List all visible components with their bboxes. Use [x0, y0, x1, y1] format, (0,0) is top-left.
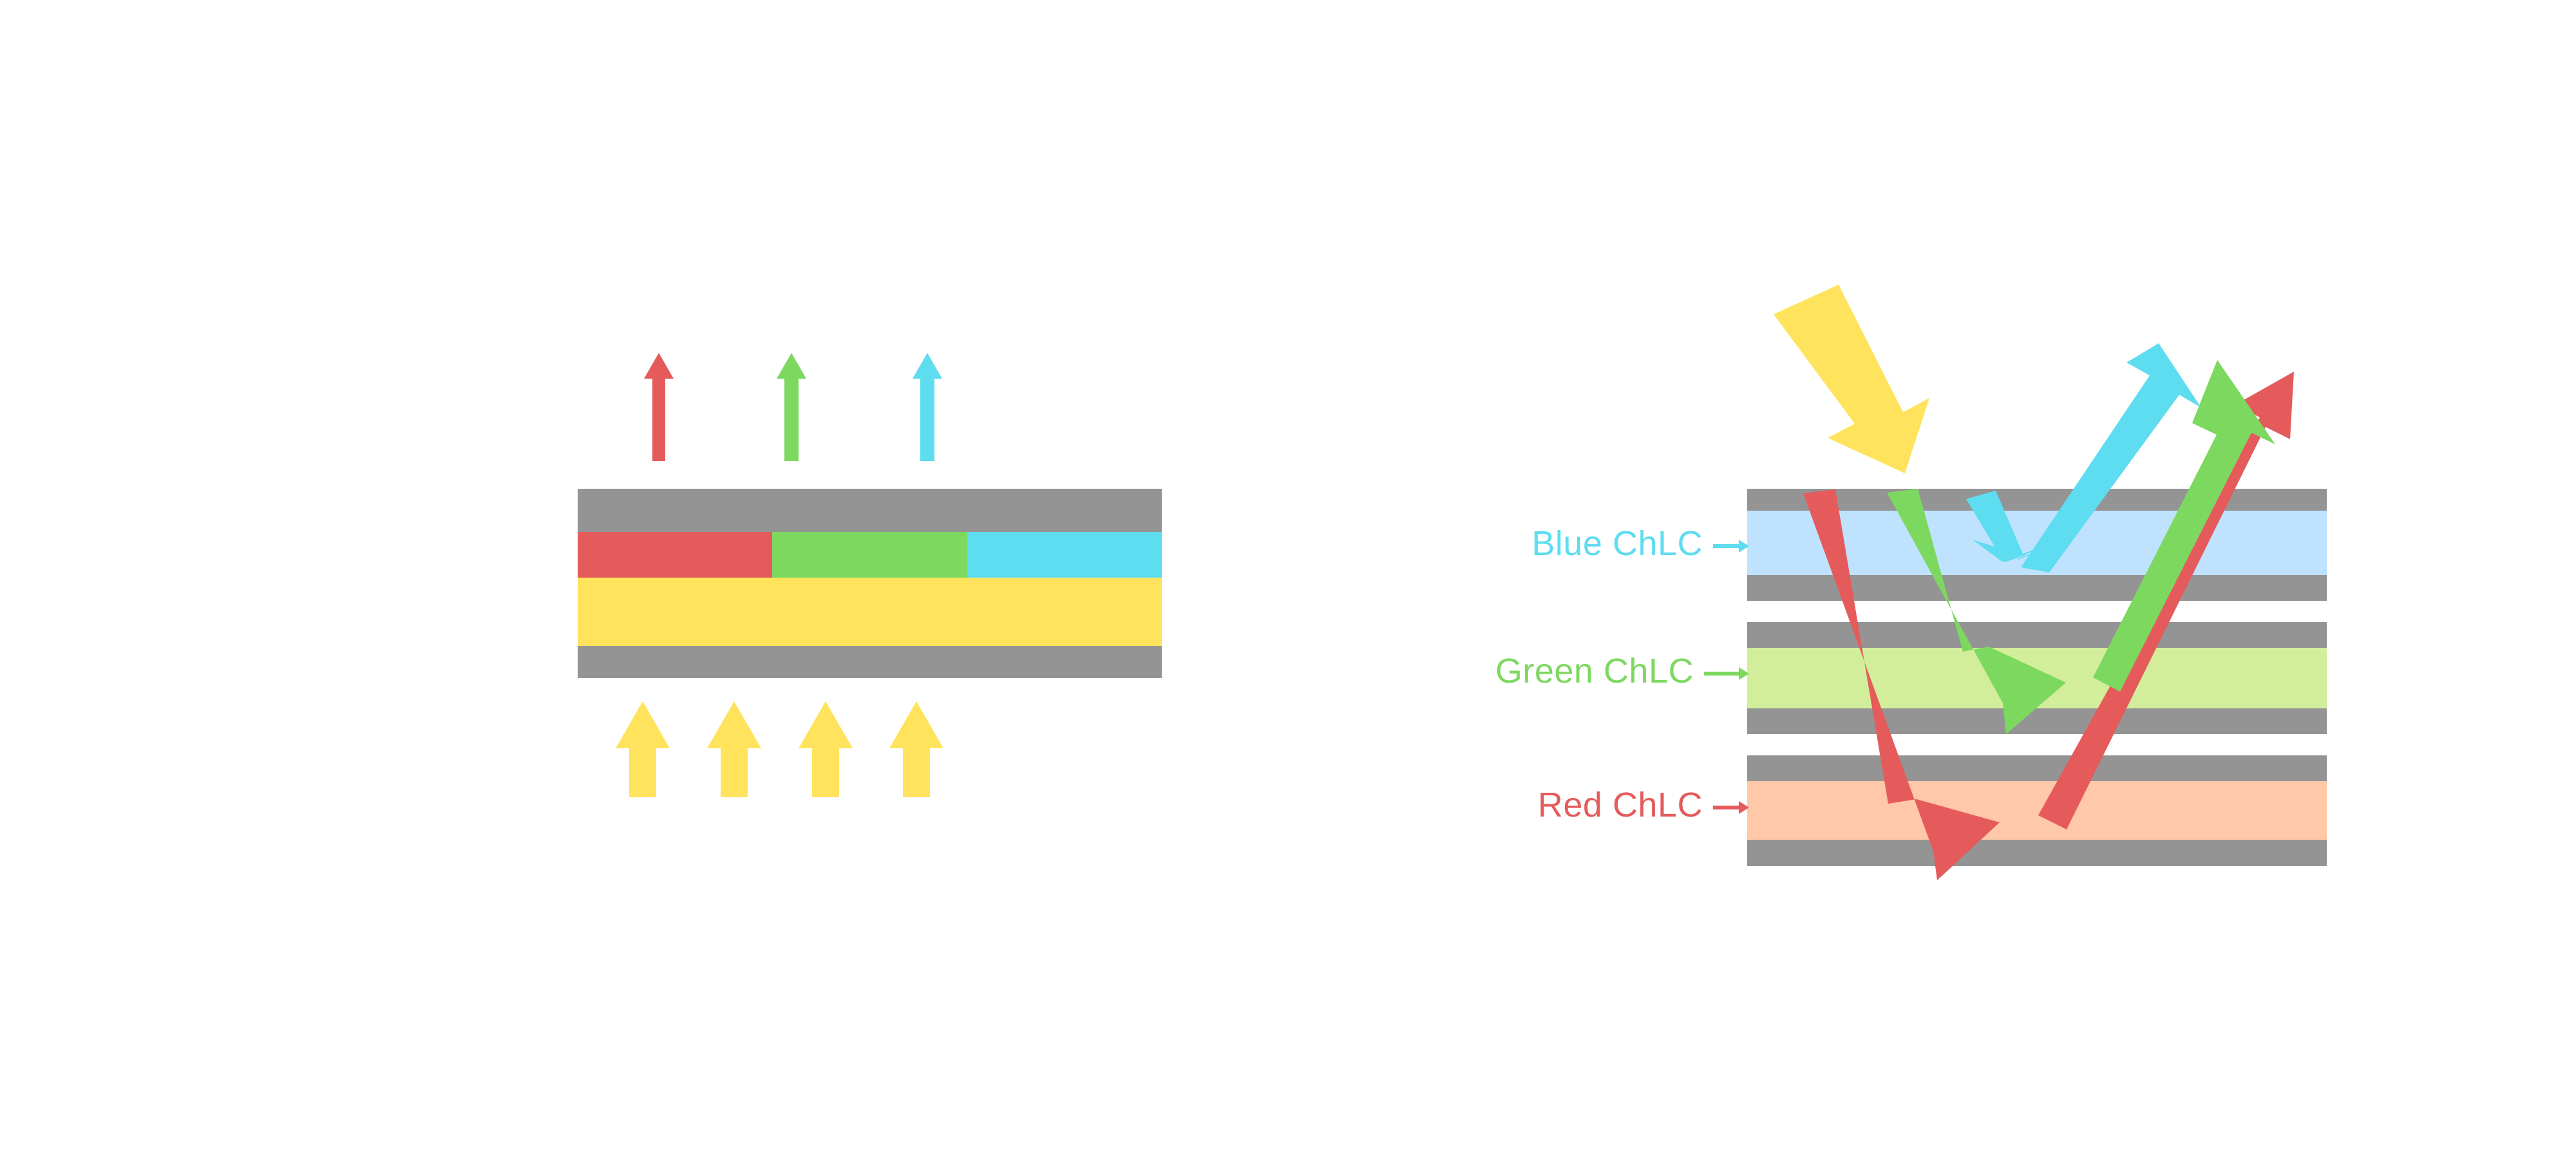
- green-filter-segment: [772, 532, 967, 578]
- backlight-arrow-3: [799, 701, 853, 797]
- air-gap-2: [1747, 734, 2327, 755]
- top-electrode-layer: [578, 489, 1162, 532]
- cyan-emitted-arrow: [913, 353, 942, 461]
- blue-filter-segment: [967, 532, 1162, 578]
- green-bottom-substrate: [1747, 708, 2327, 734]
- red-emitted-arrow: [644, 353, 674, 461]
- blue-chlc-label: Blue ChLC: [1531, 524, 1703, 563]
- green-emitted-arrow: [777, 353, 806, 461]
- backlight-arrow-2: [707, 701, 761, 797]
- left-backlight-arrows: [616, 701, 943, 797]
- green-chlc-label-arrow-icon: [1704, 667, 1749, 680]
- red-top-substrate: [1747, 755, 2327, 781]
- backlight-layer: [578, 578, 1162, 646]
- green-top-substrate: [1747, 622, 2327, 648]
- backlight-arrow-1: [616, 701, 670, 797]
- left-emitted-arrows: [644, 353, 942, 461]
- red-bottom-substrate: [1747, 840, 2327, 866]
- backlight-arrow-4: [889, 701, 943, 797]
- blue-bottom-substrate: [1747, 575, 2327, 601]
- right-panel-group: Blue ChLC Green ChLC Red ChLC: [1495, 285, 2327, 880]
- red-filter-segment: [578, 532, 772, 578]
- right-panel-labels: Blue ChLC Green ChLC Red ChLC: [1495, 524, 1749, 824]
- air-gap-1: [1747, 601, 2327, 622]
- green-chlc-label: Green ChLC: [1495, 652, 1694, 690]
- red-chlc-label: Red ChLC: [1538, 786, 1703, 824]
- chlc-schematic-svg: Blue ChLC Green ChLC Red ChLC: [0, 0, 2576, 1154]
- left-panel-group: [578, 353, 1162, 797]
- ambient-light-arrow: [1774, 285, 1929, 473]
- red-chlc-layer: [1747, 781, 2327, 840]
- figure-canvas: Blue ChLC Green ChLC Red ChLC: [0, 0, 2576, 1154]
- left-layer-stack: [578, 489, 1162, 678]
- blue-chlc-label-arrow-icon: [1713, 540, 1749, 553]
- red-chlc-label-arrow-icon: [1713, 801, 1749, 814]
- bottom-electrode-layer: [578, 646, 1162, 678]
